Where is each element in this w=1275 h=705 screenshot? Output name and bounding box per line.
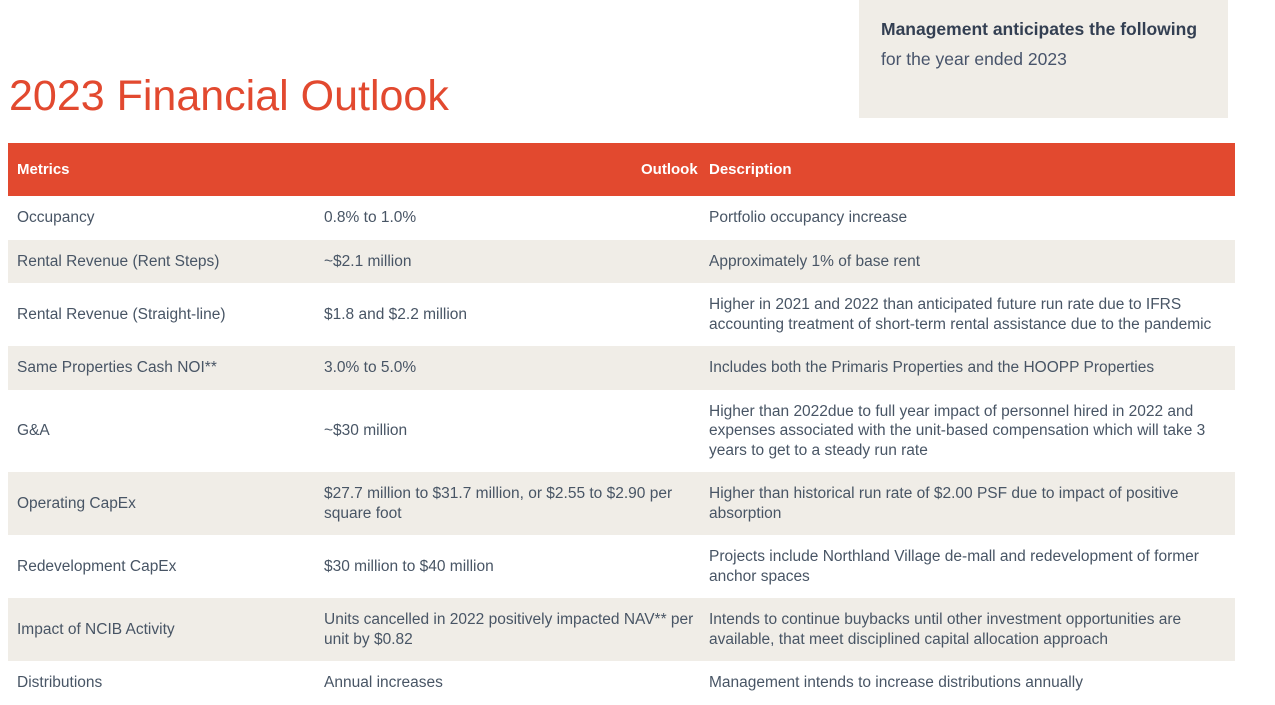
- table-body: Occupancy 0.8% to 1.0% Portfolio occupan…: [8, 196, 1235, 705]
- cell-metrics: Same Properties Cash NOI**: [8, 346, 324, 390]
- cell-outlook: $1.8 and $2.2 million: [324, 283, 709, 346]
- table-row: G&A ~$30 million Higher than 2022due to …: [8, 390, 1235, 473]
- column-header-metrics-label: Metrics: [17, 161, 324, 178]
- financial-outlook-table: Metrics Outlook Description Occupancy 0.…: [8, 143, 1235, 705]
- cell-description: Portfolio occupancy increase: [709, 196, 1235, 240]
- column-header-outlook-label: Outlook: [641, 161, 709, 178]
- cell-description: Higher than 2022due to full year impact …: [709, 390, 1235, 473]
- cell-outlook: 3.0% to 5.0%: [324, 346, 709, 390]
- cell-metrics: Redevelopment CapEx: [8, 535, 324, 598]
- table-row: Same Properties Cash NOI** 3.0% to 5.0% …: [8, 346, 1235, 390]
- management-outlook-callout: Management anticipates the following for…: [859, 0, 1228, 118]
- column-header-description-label: Description: [709, 161, 1235, 178]
- table-header-row: Metrics Outlook Description: [8, 143, 1235, 196]
- table-row: Operating CapEx $27.7 million to $31.7 m…: [8, 472, 1235, 535]
- callout-text: Management anticipates the following for…: [881, 14, 1206, 74]
- cell-description: Projects include Northland Village de-ma…: [709, 535, 1235, 598]
- cell-metrics: Occupancy: [8, 196, 324, 240]
- cell-description: Higher in 2021 and 2022 than anticipated…: [709, 283, 1235, 346]
- cell-outlook: 0.8% to 1.0%: [324, 196, 709, 240]
- callout-rest-text: for the year ended 2023: [881, 49, 1067, 69]
- page-title: 2023 Financial Outlook: [9, 68, 449, 124]
- table-row: Redevelopment CapEx $30 million to $40 m…: [8, 535, 1235, 598]
- cell-outlook: ~$2.1 million: [324, 240, 709, 284]
- table-row: Impact of NCIB Activity Units cancelled …: [8, 598, 1235, 661]
- table-row: Distributions Annual increases Managemen…: [8, 661, 1235, 705]
- table-header: Metrics Outlook Description: [8, 143, 1235, 196]
- cell-metrics: Rental Revenue (Straight-line): [8, 283, 324, 346]
- cell-metrics: G&A: [8, 390, 324, 473]
- cell-metrics: Rental Revenue (Rent Steps): [8, 240, 324, 284]
- column-header-outlook: Outlook: [324, 143, 709, 196]
- cell-description: Management intends to increase distribut…: [709, 661, 1235, 705]
- table-row: Occupancy 0.8% to 1.0% Portfolio occupan…: [8, 196, 1235, 240]
- cell-outlook: ~$30 million: [324, 390, 709, 473]
- cell-description: Includes both the Primaris Properties an…: [709, 346, 1235, 390]
- cell-metrics: Impact of NCIB Activity: [8, 598, 324, 661]
- cell-outlook: Units cancelled in 2022 positively impac…: [324, 598, 709, 661]
- callout-strong-text: Management anticipates the following: [881, 19, 1197, 39]
- cell-outlook: $27.7 million to $31.7 million, or $2.55…: [324, 472, 709, 535]
- column-header-metrics: Metrics: [8, 143, 324, 196]
- cell-description: Approximately 1% of base rent: [709, 240, 1235, 284]
- cell-outlook: Annual increases: [324, 661, 709, 705]
- cell-description: Higher than historical run rate of $2.00…: [709, 472, 1235, 535]
- column-header-description: Description: [709, 143, 1235, 196]
- cell-metrics: Operating CapEx: [8, 472, 324, 535]
- cell-outlook: $30 million to $40 million: [324, 535, 709, 598]
- table-row: Rental Revenue (Rent Steps) ~$2.1 millio…: [8, 240, 1235, 284]
- cell-description: Intends to continue buybacks until other…: [709, 598, 1235, 661]
- cell-metrics: Distributions: [8, 661, 324, 705]
- table-row: Rental Revenue (Straight-line) $1.8 and …: [8, 283, 1235, 346]
